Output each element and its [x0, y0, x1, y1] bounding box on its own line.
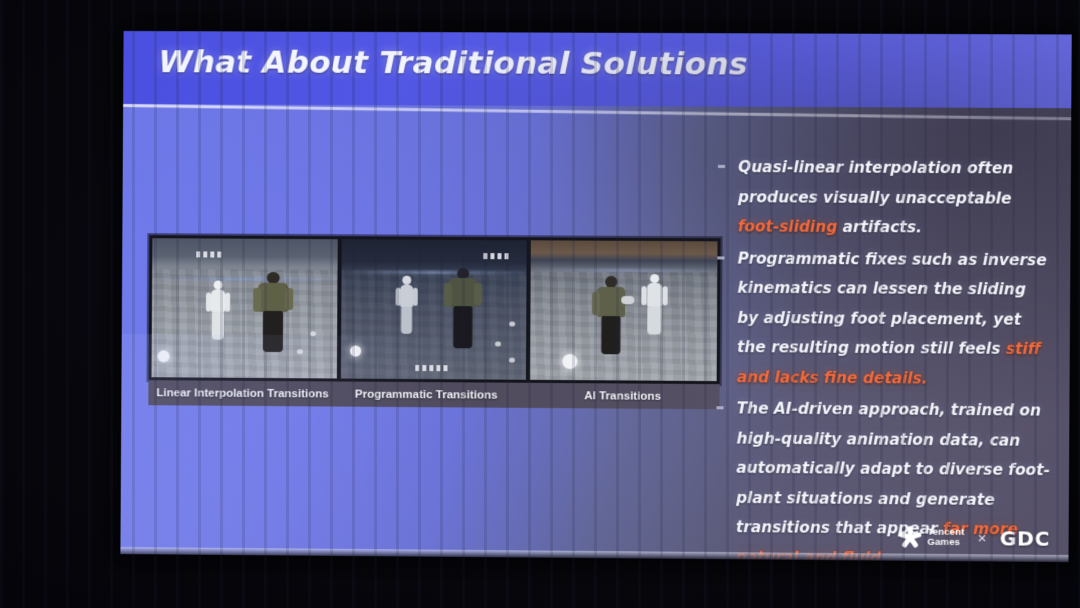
- video-panel-linear-interpolation[interactable]: [151, 238, 337, 378]
- logo-separator-x: ×: [978, 530, 987, 547]
- caption-linear-interpolation: Linear Interpolation Transitions: [156, 387, 328, 400]
- dash-bullet-icon: [716, 406, 723, 409]
- character-untextured: [207, 280, 229, 343]
- cobblestone-texture: [341, 270, 527, 380]
- ui-marker-dot: [157, 350, 169, 362]
- bullet-list: Quasi-linear interpolation often produce…: [715, 153, 1052, 562]
- bullet-run: Programmatic fixes such as inverse kinem…: [737, 249, 1047, 358]
- dash-bullet-icon: [718, 165, 725, 168]
- cobblestone-texture: [151, 269, 337, 379]
- bullet-text-1: Quasi-linear interpolation often produce…: [738, 153, 1053, 244]
- scene-hud-ticks: [483, 253, 508, 259]
- character-foreground: [445, 268, 482, 348]
- scene-hud-ticks: [197, 251, 222, 257]
- presentation-slide: What About Traditional Solutions: [120, 31, 1071, 562]
- caption-programmatic: Programmatic Transitions: [355, 388, 498, 401]
- list-item: Quasi-linear interpolation often produce…: [718, 153, 1053, 244]
- scene-hud-ticks: [415, 365, 447, 371]
- slide-title-band: What About Traditional Solutions: [123, 31, 1072, 108]
- logo-lockup: Tencent Games × GDC: [898, 525, 1050, 550]
- gdc-logo: GDC: [1000, 526, 1050, 551]
- character-untextured: [396, 276, 416, 336]
- tencent-games-logo: Tencent Games: [898, 525, 965, 550]
- tencent-wordmark-line2: Games: [927, 538, 964, 549]
- character-foreground: [253, 272, 292, 352]
- bullet-run: Quasi-linear interpolation often produce…: [738, 158, 1013, 207]
- bullet-text-2: Programmatic fixes such as inverse kinem…: [737, 244, 1052, 395]
- auditorium-backdrop: What About Traditional Solutions: [0, 0, 1080, 608]
- ui-marker-dot: [562, 354, 577, 369]
- caption-ai-transitions: AI Transitions: [584, 390, 661, 403]
- ui-marker-dot: [350, 345, 361, 356]
- character-foreground: [592, 276, 631, 355]
- tencent-wordmark: Tencent Games: [927, 527, 964, 548]
- bullet-run: artifacts.: [837, 218, 922, 237]
- character-untextured: [642, 274, 667, 336]
- video-caption-bar: Linear Interpolation Transitions Program…: [148, 380, 719, 409]
- scene-pebble: [494, 341, 500, 346]
- video-panel-ai-transitions[interactable]: [530, 240, 717, 381]
- page-title: What About Traditional Solutions: [158, 44, 748, 82]
- video-panel-programmatic[interactable]: [341, 239, 528, 380]
- projection-screen: What About Traditional Solutions: [120, 31, 1071, 562]
- dash-bullet-icon: [717, 256, 724, 259]
- list-item: Programmatic fixes such as inverse kinem…: [717, 244, 1053, 395]
- bullet-highlight: foot-sliding: [738, 217, 838, 236]
- comparison-video-strip[interactable]: [148, 235, 720, 384]
- bullet-run: .: [922, 369, 928, 387]
- bullet-run: The AI-driven approach, trained on high-…: [736, 399, 1050, 537]
- tencent-star-icon: [898, 525, 922, 549]
